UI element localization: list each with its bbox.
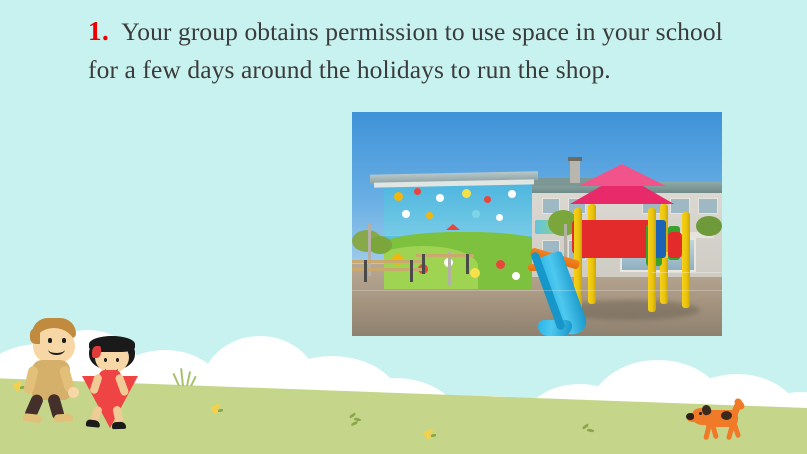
boy-eye: [48, 338, 52, 343]
photo-mural-motif: [512, 272, 520, 280]
photo-bench-leg: [422, 254, 425, 274]
photo-mural-motif: [446, 224, 460, 230]
photo-mural-motif: [436, 194, 444, 202]
list-number: 1: [88, 16, 102, 46]
girl-shoe-front: [112, 422, 126, 429]
photo-mural-motif: [414, 188, 421, 195]
school-photo-content: [352, 112, 722, 336]
boy-eye: [62, 338, 66, 343]
photo-mural-motif: [508, 190, 516, 198]
dog-eye: [699, 412, 702, 415]
photo-mural-motif: [470, 268, 480, 278]
photo-mural-motif: [496, 214, 503, 221]
boy-hair-side: [30, 328, 40, 344]
playground-arch: [576, 232, 650, 258]
playground-post-front: [682, 212, 690, 308]
playground-roof-upper: [578, 164, 666, 186]
photo-bench-leg: [466, 254, 469, 274]
boy-mouth: [48, 344, 65, 355]
photo-mural-wall: [384, 184, 532, 289]
boy-shoe-front: [54, 413, 74, 422]
photo-mural-motif: [402, 210, 410, 218]
body-text: Your group obtains permission to use spa…: [88, 17, 723, 84]
photo-paving-line: [352, 290, 722, 291]
girl-shoe-back: [86, 419, 101, 427]
photo-paving-line: [652, 272, 722, 273]
photo-chimney-cap: [568, 157, 582, 161]
photo-pole: [448, 252, 451, 286]
photo-tree: [368, 236, 392, 254]
dog-nose: [686, 413, 694, 420]
playground-panel: [668, 232, 682, 258]
photo-mural-motif: [472, 210, 480, 218]
photo-mural-motif: [484, 196, 491, 203]
girl-hair-bow: [92, 346, 101, 358]
boy-hand: [68, 387, 79, 398]
photo-bench-leg: [410, 260, 413, 282]
school-photo: [352, 112, 722, 336]
photo-window: [698, 198, 718, 214]
photo-bench-leg: [364, 260, 367, 282]
photo-tree: [696, 216, 722, 236]
boy-character: [24, 316, 88, 420]
playground-post-front: [648, 208, 656, 312]
body-paragraph: 1.Your group obtains permission to use s…: [88, 12, 758, 89]
photo-mural-motif: [496, 260, 505, 269]
photo-mural-motif: [426, 212, 433, 219]
dog-back-leg-2: [732, 423, 741, 439]
girl-eye: [116, 358, 119, 362]
photo-mural-motif: [394, 192, 403, 201]
list-number-separator: .: [102, 16, 109, 46]
photo-mural-motif: [462, 189, 471, 198]
dog-character: [688, 400, 750, 442]
girl-character: [84, 336, 144, 430]
dog-body-patch: [721, 411, 732, 420]
girl-eye: [104, 358, 107, 362]
slide-canvas: 1.Your group obtains permission to use s…: [0, 0, 807, 454]
